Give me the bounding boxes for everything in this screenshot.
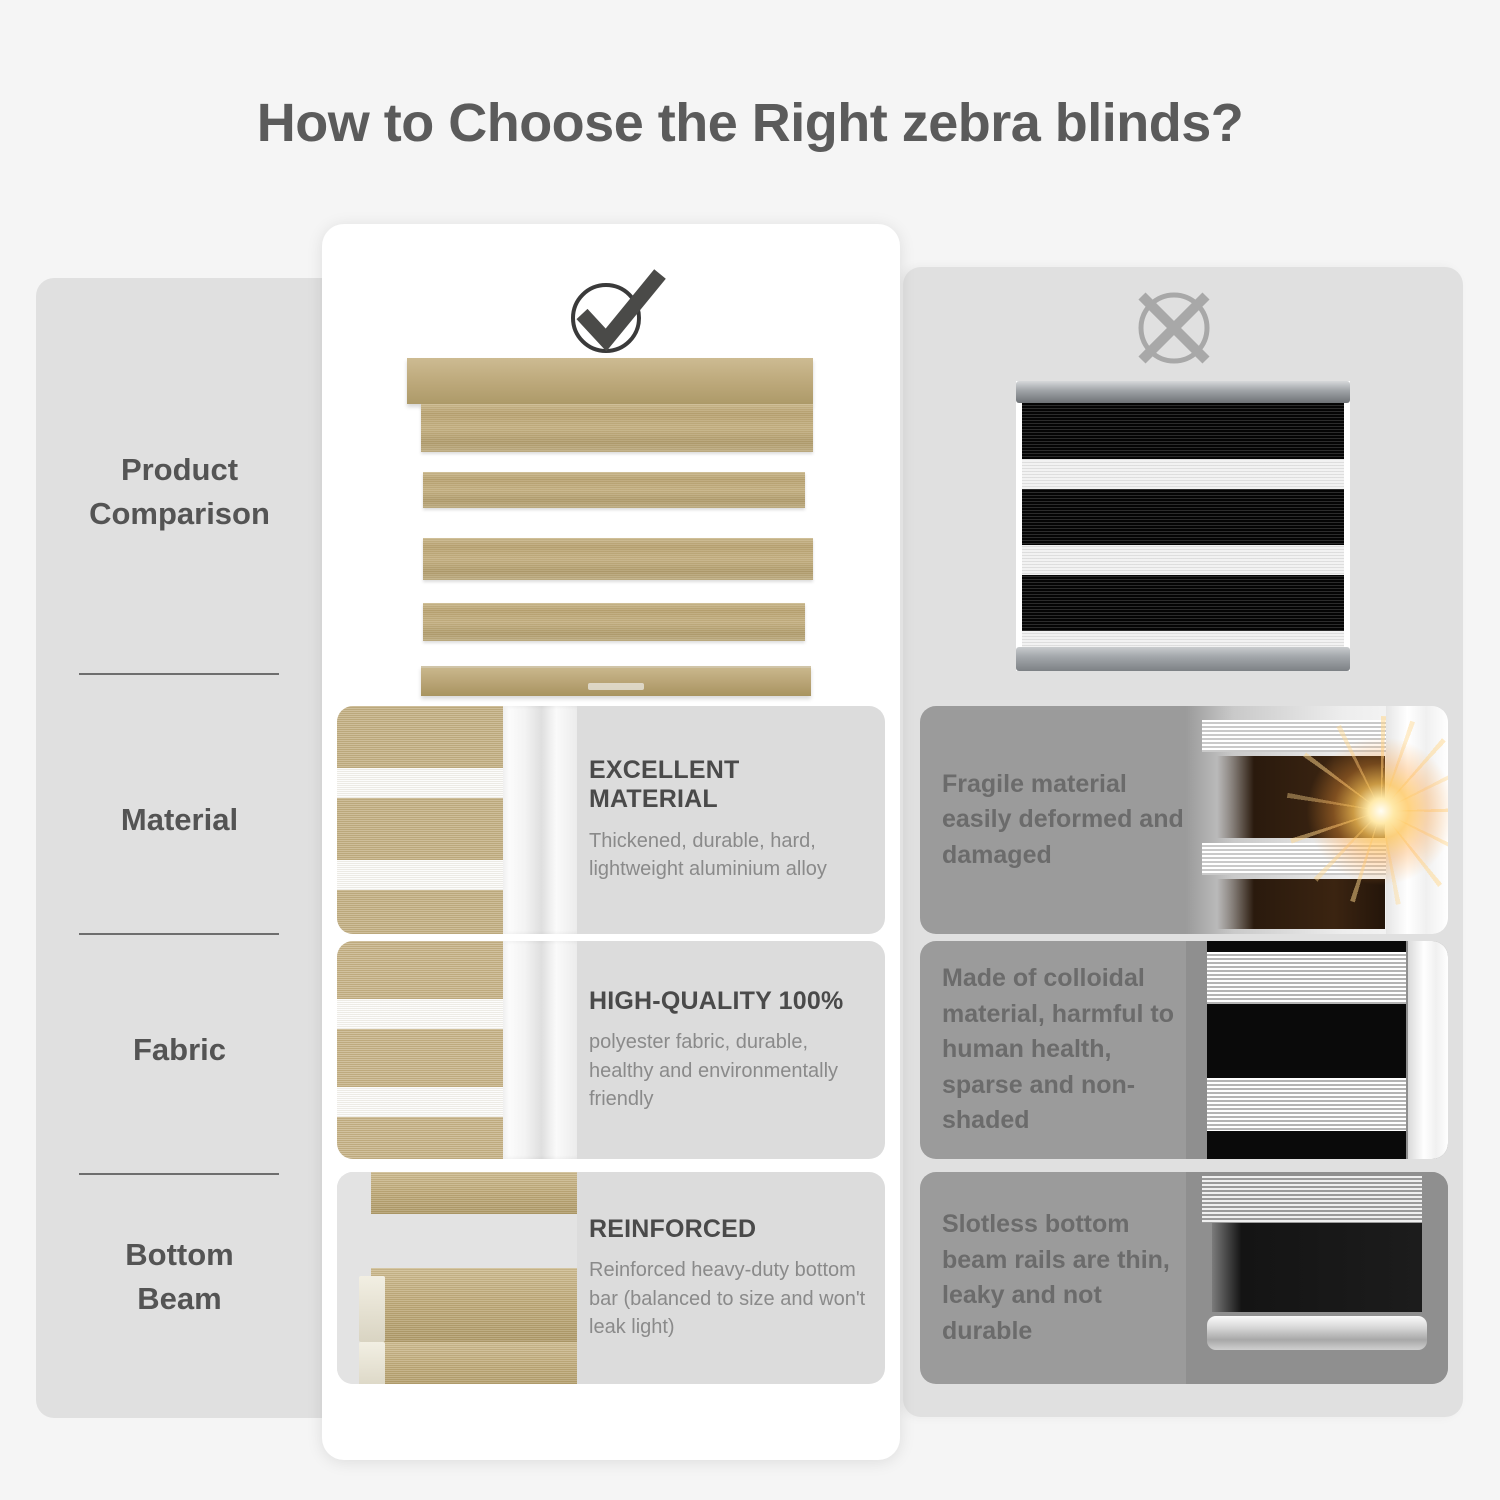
sparse-sheer-band: [1207, 952, 1406, 1004]
good-fabric-image: [337, 941, 577, 1159]
sun-glare-icon: [1306, 736, 1448, 886]
thin-rail-sheer-band: [1202, 1176, 1422, 1223]
row-label-line-2: Comparison: [36, 492, 323, 536]
good-fabric-text: HIGH-QUALITY 100% polyester fabric, dura…: [589, 941, 867, 1159]
row-label-material: Material: [36, 798, 323, 842]
good-hero-bottom-bar: [421, 666, 811, 696]
sparse-window-frame: [1408, 941, 1448, 1159]
good-hero-image: [407, 358, 813, 698]
sparse-dark-band: [1207, 941, 1406, 952]
good-hero-slat: [423, 603, 805, 641]
bad-fabric-text: Made of colloidal material, harmful to h…: [942, 941, 1194, 1159]
bad-feature-card-material: Fragile material easily deformed and dam…: [920, 706, 1448, 934]
cross-circle-icon: [1128, 282, 1220, 374]
check-circle-icon: [560, 268, 670, 358]
good-hero-slat: [423, 538, 813, 580]
bad-feature-card-fabric: Made of colloidal material, harmful to h…: [920, 941, 1448, 1159]
sparse-dark-band: [1207, 1004, 1406, 1078]
row-label-fabric: Fabric: [36, 1028, 323, 1072]
row-label-bottom-beam: Bottom Beam: [36, 1233, 323, 1321]
sparse-dark-band: [1207, 1131, 1406, 1159]
beam-end-cap: [359, 1276, 385, 1342]
sparse-sheer-band: [1207, 1078, 1406, 1130]
good-feature-card-fabric: HIGH-QUALITY 100% polyester fabric, dura…: [337, 941, 885, 1159]
beam-slat: [371, 1268, 577, 1342]
tan-blind-stack: [337, 706, 513, 934]
good-feature-heading: HIGH-QUALITY 100%: [589, 987, 867, 1016]
good-hero-slat: [423, 472, 805, 508]
rail-divider-1: [79, 673, 279, 675]
bad-feature-card-bottom-beam: Slotless bottom beam rails are thin, lea…: [920, 1172, 1448, 1384]
bad-bottom-beam-text: Slotless bottom beam rails are thin, lea…: [942, 1172, 1194, 1384]
bad-feature-text: Fragile material easily deformed and dam…: [942, 767, 1194, 874]
bad-hero-bottom-bar: [1016, 647, 1350, 671]
bad-hero-fabric: [1022, 403, 1344, 647]
row-label-line-1: Fabric: [36, 1028, 323, 1072]
rail-divider-3: [79, 1173, 279, 1175]
reinforced-bottom-bar: [371, 1342, 577, 1384]
good-bottom-beam-text: REINFORCED Reinforced heavy-duty bottom …: [589, 1172, 867, 1384]
good-hero-grip: [588, 683, 644, 690]
bad-material-image: [1186, 706, 1448, 934]
good-hero-headrail: [407, 358, 813, 404]
bad-feature-text: Made of colloidal material, harmful to h…: [942, 961, 1194, 1139]
rail-divider-2: [79, 933, 279, 935]
row-label-line-1: Material: [36, 798, 323, 842]
good-feature-heading: EXCELLENT MATERIAL: [589, 756, 867, 814]
good-bottom-beam-image: [337, 1172, 577, 1384]
good-material-image: [337, 706, 577, 934]
tan-fabric-stack: [337, 941, 513, 1159]
row-label-rail: Product Comparison Material Fabric Botto…: [36, 278, 323, 1418]
good-feature-card-material: EXCELLENT MATERIAL Thickened, durable, h…: [337, 706, 885, 934]
thin-rail-dark-band: [1212, 1223, 1422, 1312]
white-window-frame: [503, 941, 577, 1159]
good-hero-slat: [421, 404, 813, 452]
bad-material-text: Fragile material easily deformed and dam…: [942, 706, 1194, 934]
thin-silver-bottom-rail: [1207, 1316, 1427, 1350]
row-label-line-2: Beam: [36, 1277, 323, 1321]
row-label-line-1: Product: [36, 448, 323, 492]
good-feature-body: polyester fabric, durable, healthy and e…: [589, 1028, 867, 1113]
bottom-bar-end-cap: [359, 1342, 385, 1384]
white-window-frame: [503, 706, 577, 934]
infographic-root: How to Choose the Right zebra blinds? Pr…: [0, 0, 1500, 1500]
good-feature-card-bottom-beam: REINFORCED Reinforced heavy-duty bottom …: [337, 1172, 885, 1384]
good-feature-heading: REINFORCED: [589, 1215, 867, 1244]
good-feature-body: Reinforced heavy-duty bottom bar (balanc…: [589, 1256, 867, 1341]
bad-fabric-image: [1186, 941, 1448, 1159]
good-feature-body: Thickened, durable, hard, lightweight al…: [589, 827, 867, 884]
bad-bottom-beam-image: [1186, 1172, 1448, 1384]
bad-hero-headrail: [1016, 381, 1350, 403]
beam-slat: [371, 1172, 577, 1214]
good-material-text: EXCELLENT MATERIAL Thickened, durable, h…: [589, 706, 867, 934]
bad-hero-image: [1016, 381, 1350, 671]
row-label-line-1: Bottom: [36, 1233, 323, 1277]
page-title: How to Choose the Right zebra blinds?: [0, 92, 1500, 154]
bad-feature-text: Slotless bottom beam rails are thin, lea…: [942, 1207, 1194, 1349]
row-label-product-comparison: Product Comparison: [36, 448, 323, 536]
